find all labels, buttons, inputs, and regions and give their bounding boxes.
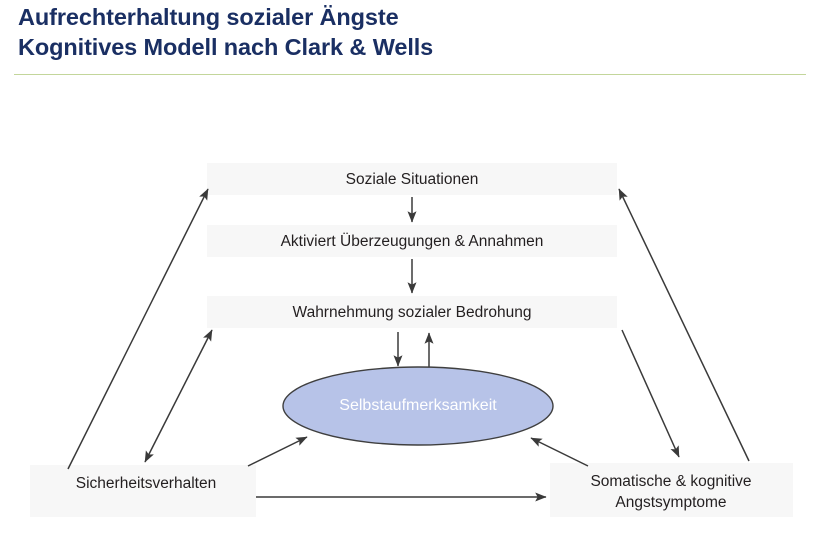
node-sicherheitsverhalten-label: Sicherheitsverhalten [76,475,216,492]
node-sicherheitsverhalten[interactable]: Sicherheitsverhalten [30,465,256,517]
node-wahrnehmung-bedrohung-label: Wahrnehmung sozialer Bedrohung [293,304,532,321]
edge-wahrnehmung-to-somatische [622,330,679,457]
edge-wahrnehmung-sicherheitsverhalten [145,330,212,462]
node-aktiviert-ueberzeugungen-label: Aktiviert Überzeugungen & Annahmen [281,232,544,250]
edge-somatische-to-selbst [531,438,588,466]
node-aktiviert-ueberzeugungen[interactable]: Aktiviert Überzeugungen & Annahmen [207,225,617,257]
slide-canvas: Aufrechterhaltung sozialer Ängste Kognit… [0,0,820,551]
clark-wells-diagram: Soziale Situationen Aktiviert Überzeugun… [0,0,820,551]
edge-somatische-to-situationen [619,189,749,461]
node-soziale-situationen-label: Soziale Situationen [346,171,479,188]
node-somatische-kognitive-label-line-1: Somatische & kognitive [590,473,751,490]
node-somatische-kognitive[interactable]: Somatische & kognitive Angstsymptome [550,463,793,517]
node-wahrnehmung-bedrohung[interactable]: Wahrnehmung sozialer Bedrohung [207,296,617,328]
node-selbstaufmerksamkeit[interactable]: Selbstaufmerksamkeit [283,367,553,445]
edge-sicherheitsverhalten-to-selbst [248,437,307,466]
node-soziale-situationen[interactable]: Soziale Situationen [207,163,617,195]
node-selbstaufmerksamkeit-label: Selbstaufmerksamkeit [339,397,497,414]
node-somatische-kognitive-label-line-2: Angstsymptome [615,494,726,511]
edge-sicherheitsverhalten-to-situationen [68,189,208,469]
